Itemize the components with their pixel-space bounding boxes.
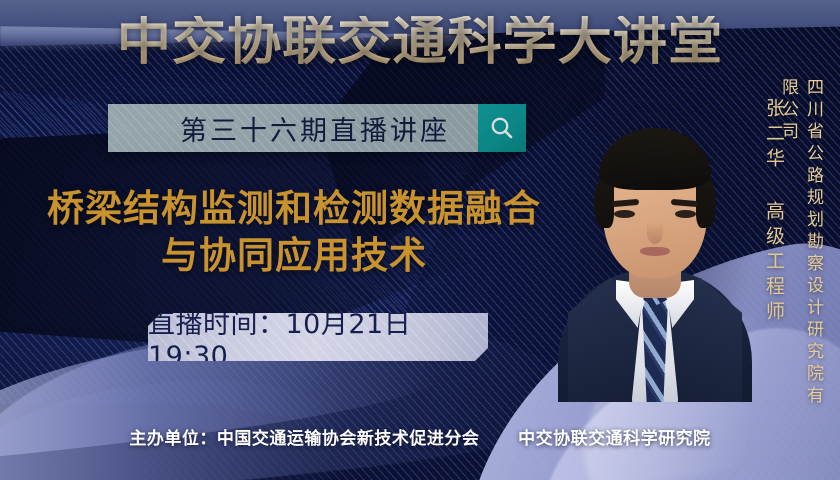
series-band-fill: 第三十六期直播讲座 <box>108 104 478 152</box>
speaker-organization: 四川省公路规划勘察设计研究院有限公司 <box>776 78 826 428</box>
headline-line-1: 桥梁结构监测和检测数据融合 <box>47 187 541 230</box>
portrait-nose <box>647 222 663 244</box>
headline-line-2: 与协同应用技术 <box>34 233 554 280</box>
livestream-poster: 中交协联交通科学大讲堂 第三十六期直播讲座 桥梁结构监测和检测数据融合 与协同应… <box>0 0 840 480</box>
series-label: 第三十六期直播讲座 <box>136 109 450 148</box>
page-title: 中交协联交通科学大讲堂 <box>0 16 840 68</box>
portrait-eye-right <box>675 210 696 218</box>
speaker-portrait <box>562 102 748 402</box>
search-icon <box>488 114 516 142</box>
lecture-headline: 桥梁结构监测和检测数据融合 与协同应用技术 <box>34 186 554 279</box>
portrait-mouth <box>640 247 670 256</box>
footer-institute-text: 中交协联交通科学研究院 <box>518 429 711 449</box>
series-band: 第三十六期直播讲座 <box>108 104 526 152</box>
live-time-badge: 直播时间：10月21日19:30 <box>148 313 488 361</box>
footer-organizer-text: 主办单位：中国交通运输协会新技术促进分会 <box>129 429 479 449</box>
search-icon-box[interactable] <box>478 104 526 152</box>
footer-organizers: 主办单位：中国交通运输协会新技术促进分会 中交协联交通科学研究院 <box>0 424 840 449</box>
portrait-eye-left <box>614 210 635 218</box>
